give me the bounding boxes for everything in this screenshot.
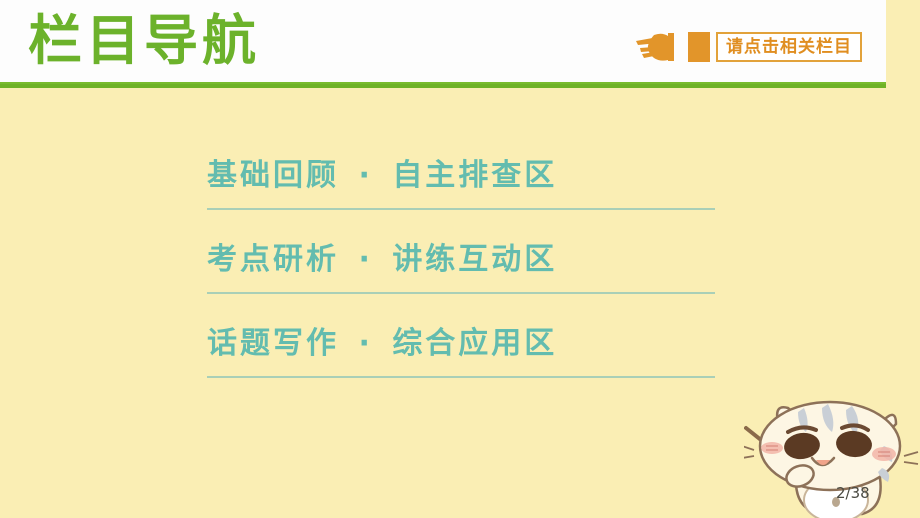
cartoon-cat-mascot [744, 392, 920, 518]
menu-item-2-label: 考点研析 · 讲练互动区 [207, 238, 557, 282]
menu-item-3[interactable]: 话题写作 · 综合应用区 [207, 316, 715, 400]
menu-item-1-separator: · [352, 154, 378, 198]
pointing-hand-icon [634, 30, 690, 64]
menu-item-1-right: 自主排查区 [392, 158, 557, 193]
menu-item-1-label: 基础回顾 · 自主排查区 [207, 154, 557, 198]
menu-item-3-label: 话题写作 · 综合应用区 [207, 322, 557, 366]
menu-item-1[interactable]: 基础回顾 · 自主排查区 [207, 148, 715, 232]
navigation-menu: 基础回顾 · 自主排查区 考点研析 · 讲练互动区 话题写作 · 综合应用区 [207, 148, 715, 400]
page-number: 2/38 [836, 484, 870, 502]
hint-label: 请点击相关栏目 [726, 39, 852, 56]
page-title: 栏目导航 [28, 10, 260, 72]
click-hint-badge[interactable]: 请点击相关栏目 [634, 27, 862, 67]
menu-item-3-right: 综合应用区 [392, 326, 557, 361]
menu-item-2-underline [207, 292, 715, 294]
menu-item-1-left: 基础回顾 [207, 158, 339, 193]
menu-item-2-left: 考点研析 [207, 242, 339, 277]
menu-item-2-right: 讲练互动区 [392, 242, 557, 277]
menu-item-2-separator: · [352, 238, 378, 282]
menu-item-3-separator: · [352, 322, 378, 366]
menu-item-3-left: 话题写作 [207, 326, 339, 361]
menu-item-1-underline [207, 208, 715, 210]
slide-root: 栏目导航 请点击相关栏目 基础回顾 · [0, 0, 920, 518]
hint-text-box[interactable]: 请点击相关栏目 [716, 32, 862, 62]
header-divider-highlight [0, 82, 886, 84]
menu-item-2[interactable]: 考点研析 · 讲练互动区 [207, 232, 715, 316]
header-divider-rule [0, 82, 886, 88]
hint-orange-block [688, 32, 710, 62]
menu-item-3-underline [207, 376, 715, 378]
